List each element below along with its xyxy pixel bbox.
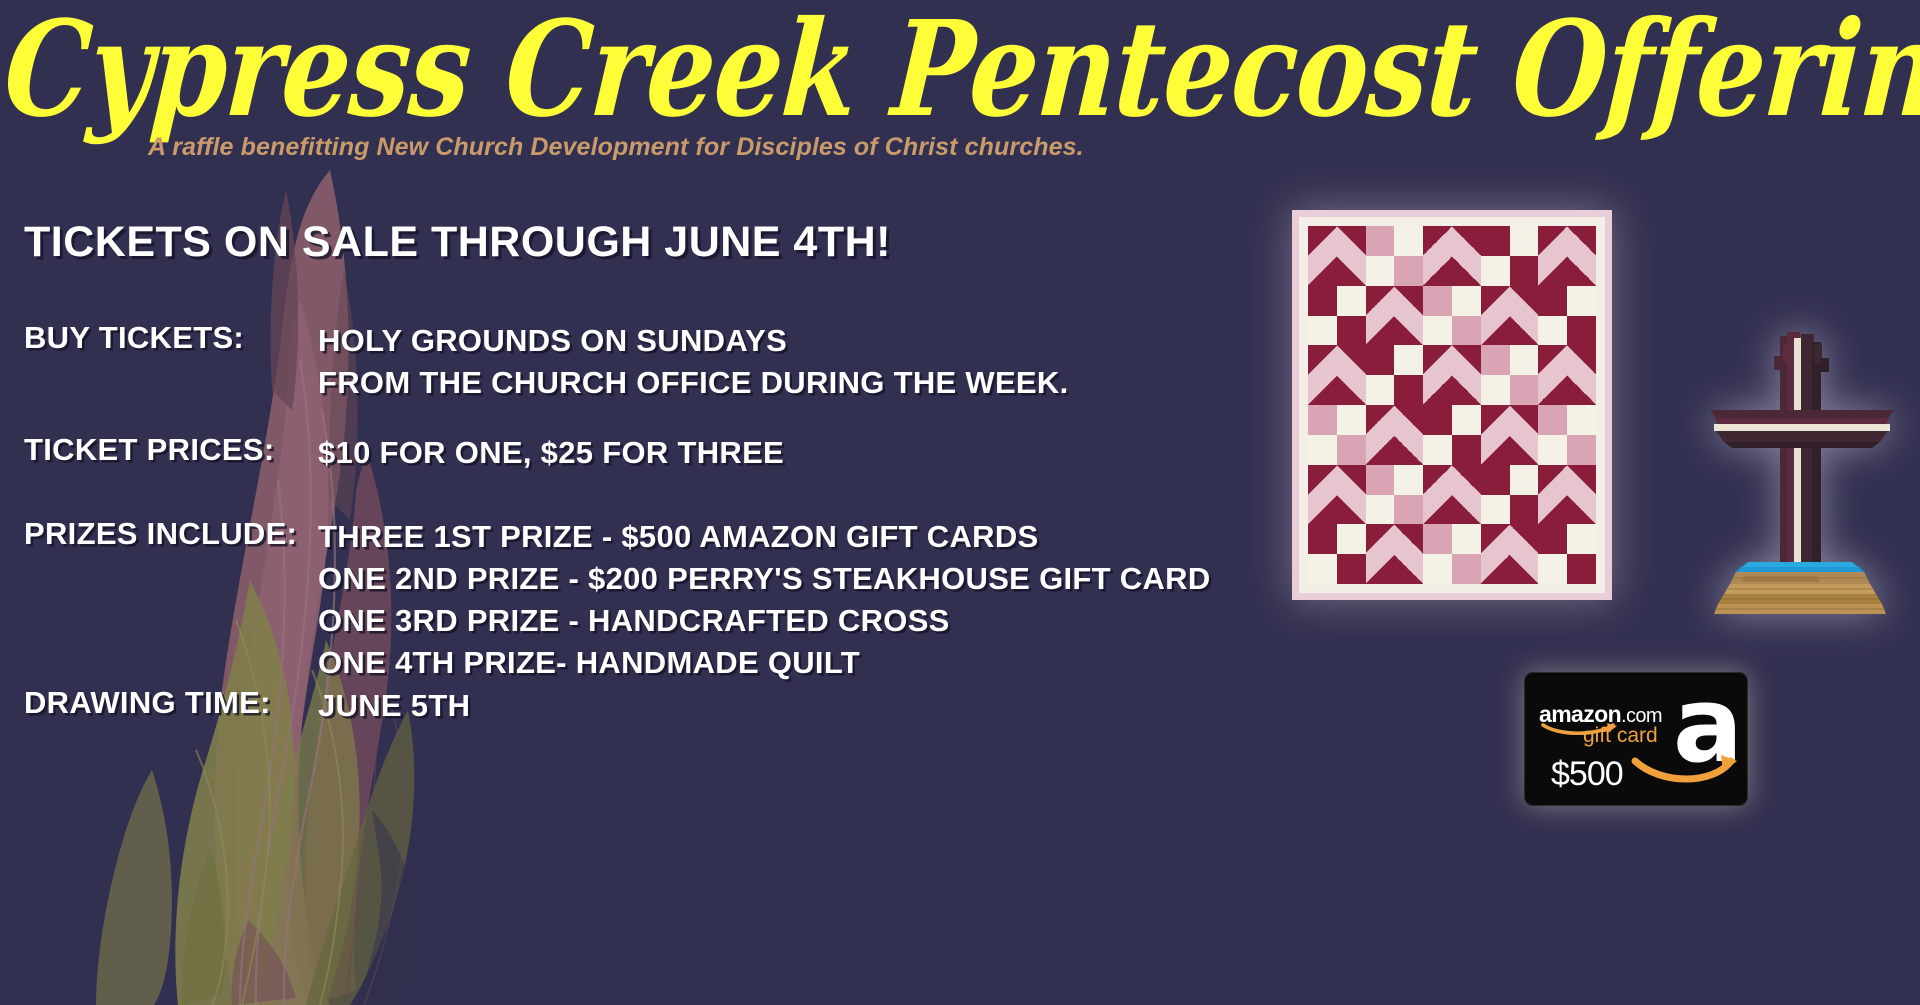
- quilt-border: [1292, 210, 1612, 600]
- quilt-patch: [1394, 375, 1423, 405]
- quilt-patch: [1481, 465, 1510, 495]
- prize-line-3: ONE 3RD PRIZE - HANDCRAFTED CROSS: [318, 600, 1211, 642]
- quilt-patch: [1567, 375, 1596, 405]
- quilt-patch: [1337, 554, 1366, 584]
- quilt-patch: [1394, 435, 1423, 465]
- cross-wooden-base: [1714, 572, 1886, 614]
- quilt-patch: [1567, 405, 1596, 435]
- buy-tickets-line-2: FROM THE CHURCH OFFICE DURING THE WEEK.: [318, 362, 1069, 404]
- quilt-patch: [1394, 524, 1423, 554]
- quilt-patch: [1366, 256, 1395, 286]
- drawing-time-label: DRAWING TIME:: [24, 685, 271, 721]
- quilt-patch: [1423, 286, 1452, 316]
- quilt-patch: [1567, 554, 1596, 584]
- quilt-patch: [1538, 256, 1567, 286]
- quilt-patch: [1308, 524, 1337, 554]
- quilt-patch: [1538, 465, 1567, 495]
- quilt-patch: [1567, 345, 1596, 375]
- quilt-patch: [1337, 256, 1366, 286]
- prize-line-4: ONE 4TH PRIZE- HANDMADE QUILT: [318, 642, 1211, 684]
- ticket-prices-values: $10 FOR ONE, $25 FOR THREE: [318, 432, 784, 474]
- quilt-patch: [1366, 316, 1395, 346]
- quilt-patch: [1510, 316, 1539, 346]
- quilt-patch: [1481, 524, 1510, 554]
- quilt-patch: [1423, 495, 1452, 525]
- quilt-patch: [1308, 226, 1337, 256]
- quilt-patch: [1423, 554, 1452, 584]
- quilt-patch: [1538, 495, 1567, 525]
- quilt-patch: [1481, 435, 1510, 465]
- quilt-patch: [1567, 226, 1596, 256]
- page-subtitle: A raffle benefitting New Church Developm…: [148, 133, 1084, 162]
- quilt-patch: [1423, 256, 1452, 286]
- quilt-patch: [1366, 554, 1395, 584]
- quilt-patch: [1510, 465, 1539, 495]
- prizes-label: PRIZES INCLUDE:: [24, 516, 297, 552]
- quilt-patch: [1567, 286, 1596, 316]
- quilt-patch: [1538, 286, 1567, 316]
- quilt-patch: [1567, 495, 1596, 525]
- quilt-patch: [1366, 345, 1395, 375]
- quilt-patch: [1510, 435, 1539, 465]
- quilt-patch: [1423, 345, 1452, 375]
- quilt-patch: [1337, 345, 1366, 375]
- quilt-patch: [1481, 495, 1510, 525]
- quilt-patch: [1510, 405, 1539, 435]
- ticket-prices-line-1: $10 FOR ONE, $25 FOR THREE: [318, 432, 784, 474]
- quilt-patch: [1452, 286, 1481, 316]
- buy-tickets-label: BUY TICKETS:: [24, 320, 244, 356]
- quilt-patch: [1308, 554, 1337, 584]
- quilt-patch: [1538, 554, 1567, 584]
- quilt-patch: [1567, 316, 1596, 346]
- quilt-patch: [1510, 286, 1539, 316]
- ticket-prices-label: TICKET PRICES:: [24, 432, 275, 468]
- quilt-patch: [1538, 316, 1567, 346]
- drawing-time-line-1: JUNE 5TH: [318, 685, 470, 727]
- quilt-patch: [1567, 524, 1596, 554]
- quilt-patch: [1394, 226, 1423, 256]
- quilt-patch: [1308, 286, 1337, 316]
- amazon-logo-letter: a: [1673, 685, 1743, 766]
- quilt-patch: [1337, 286, 1366, 316]
- quilt-patch: [1394, 465, 1423, 495]
- quilt-patch: [1423, 405, 1452, 435]
- amazon-smile-icon: [1631, 755, 1739, 789]
- quilt-patch: [1452, 256, 1481, 286]
- quilt-patch: [1538, 524, 1567, 554]
- quilt-field: [1308, 226, 1596, 584]
- prize-line-2: ONE 2ND PRIZE - $200 PERRY'S STEAKHOUSE …: [318, 558, 1211, 600]
- quilt-patch: [1337, 226, 1366, 256]
- quilt-patch: [1366, 405, 1395, 435]
- quilt-patch: [1366, 375, 1395, 405]
- quilt-patch: [1308, 256, 1337, 286]
- quilt-patch: [1452, 524, 1481, 554]
- quilt-patch: [1452, 345, 1481, 375]
- quilt-patch: [1394, 345, 1423, 375]
- quilt-patch: [1423, 465, 1452, 495]
- quilt-patch: [1366, 465, 1395, 495]
- cross-horizontal-beam: [1710, 410, 1894, 448]
- quilt-patch: [1394, 554, 1423, 584]
- quilt-patch: [1394, 495, 1423, 525]
- quilt-patch: [1481, 256, 1510, 286]
- quilt-patch: [1481, 345, 1510, 375]
- quilt-patch: [1394, 286, 1423, 316]
- poster-header: Cypress Creek Pentecost Offering Raffle …: [0, 0, 1920, 175]
- quilt-patch: [1394, 405, 1423, 435]
- quilt-patch: [1308, 345, 1337, 375]
- quilt-patch: [1538, 435, 1567, 465]
- quilt-patch: [1538, 345, 1567, 375]
- quilt-patch: [1538, 226, 1567, 256]
- quilt-patch: [1452, 316, 1481, 346]
- quilt-patch: [1481, 554, 1510, 584]
- quilt-patch: [1337, 524, 1366, 554]
- quilt-patch: [1452, 554, 1481, 584]
- quilt-patch: [1481, 226, 1510, 256]
- quilt-patch: [1337, 405, 1366, 435]
- quilt-patch: [1452, 405, 1481, 435]
- amazon-product-label: gift card: [1583, 725, 1658, 746]
- quilt-patch: [1481, 286, 1510, 316]
- quilt-patch: [1452, 495, 1481, 525]
- quilt-patch: [1481, 375, 1510, 405]
- quilt-patch: [1452, 375, 1481, 405]
- quilt-patch: [1481, 405, 1510, 435]
- amazon-card-face: amazon.com gift card $500 a: [1524, 672, 1748, 806]
- quilt-patch: [1423, 435, 1452, 465]
- quilt-patch: [1308, 316, 1337, 346]
- quilt-patch: [1452, 465, 1481, 495]
- quilt-patch: [1510, 524, 1539, 554]
- quilt-patch: [1308, 375, 1337, 405]
- quilt-patch: [1308, 435, 1337, 465]
- quilt-patch: [1308, 465, 1337, 495]
- quilt-patch: [1394, 256, 1423, 286]
- quilt-patch: [1567, 435, 1596, 465]
- sale-deadline-headline: TICKETS ON SALE THROUGH JUNE 4TH!: [24, 218, 891, 267]
- quilt-patch: [1337, 435, 1366, 465]
- quilt-patch: [1423, 524, 1452, 554]
- buy-tickets-line-1: HOLY GROUNDS ON SUNDAYS: [318, 320, 1069, 362]
- quilt-patch: [1366, 524, 1395, 554]
- quilt-patch: [1510, 495, 1539, 525]
- quilt-patch: [1452, 226, 1481, 256]
- prize-line-1: THREE 1ST PRIZE - $500 AMAZON GIFT CARDS: [318, 516, 1211, 558]
- page-title: Cypress Creek Pentecost Offering Raffle: [1, 4, 1910, 136]
- quilt-patch: [1481, 316, 1510, 346]
- quilt-patch: [1567, 256, 1596, 286]
- quilt-patch: [1366, 286, 1395, 316]
- quilt-patch: [1394, 316, 1423, 346]
- buy-tickets-values: HOLY GROUNDS ON SUNDAYS FROM THE CHURCH …: [318, 320, 1069, 404]
- quilt-patch: [1423, 316, 1452, 346]
- raffle-poster: Cypress Creek Pentecost Offering Raffle …: [0, 0, 1920, 1005]
- quilt-patch: [1567, 465, 1596, 495]
- quilt-patch: [1538, 405, 1567, 435]
- amazon-gift-card-image: amazon.com gift card $500 a: [1524, 672, 1746, 804]
- quilt-patch: [1452, 435, 1481, 465]
- quilt-patch: [1308, 495, 1337, 525]
- quilt-patch: [1510, 554, 1539, 584]
- quilt-patch: [1510, 375, 1539, 405]
- handmade-quilt-photo: [1292, 210, 1612, 600]
- quilt-patch: [1510, 345, 1539, 375]
- quilt-patch: [1366, 226, 1395, 256]
- quilt-patch: [1423, 226, 1452, 256]
- quilt-patch: [1538, 375, 1567, 405]
- quilt-patch: [1366, 435, 1395, 465]
- quilt-patch: [1337, 495, 1366, 525]
- quilt-patch: [1337, 465, 1366, 495]
- quilt-patch: [1423, 375, 1452, 405]
- quilt-patch: [1510, 256, 1539, 286]
- handcrafted-cross-photo: [1688, 318, 1916, 618]
- drawing-time-values: JUNE 5TH: [318, 685, 470, 727]
- quilt-patch: [1337, 316, 1366, 346]
- amazon-card-amount: $500: [1551, 757, 1623, 791]
- quilt-patch: [1308, 405, 1337, 435]
- quilt-patch: [1510, 226, 1539, 256]
- prizes-values: THREE 1ST PRIZE - $500 AMAZON GIFT CARDS…: [318, 516, 1211, 684]
- quilt-patch: [1366, 495, 1395, 525]
- quilt-patch: [1337, 375, 1366, 405]
- quilt-block-grid: [1308, 226, 1596, 584]
